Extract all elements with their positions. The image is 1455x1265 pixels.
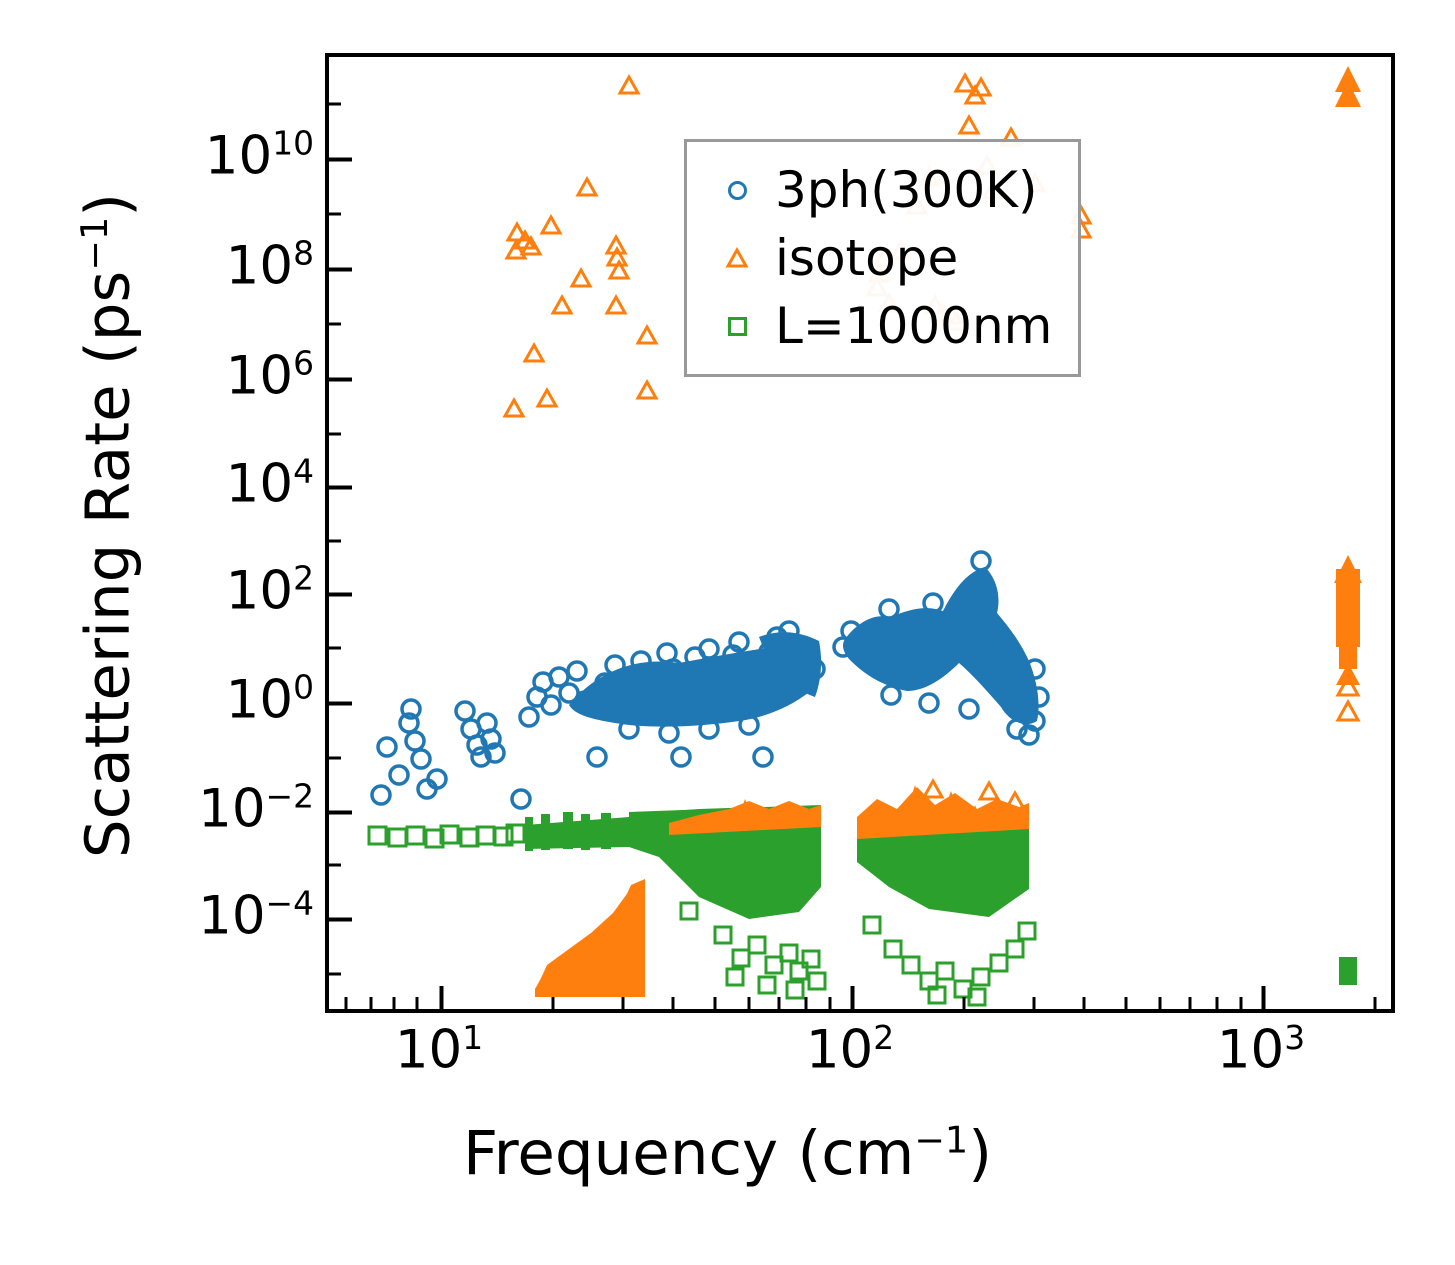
x-axis-label-tail: ) (968, 1118, 992, 1189)
xtick-exponent: 3 (1284, 1018, 1305, 1057)
ytick-mantissa: 10 (226, 453, 293, 514)
xtick-mantissa: 10 (806, 1020, 873, 1081)
legend-entry-3ph[interactable]: 3ph(300K) (705, 156, 1052, 224)
xtick-minor (416, 997, 419, 1010)
xtick-minor (1189, 997, 1192, 1010)
ytick-major-1em4 (328, 918, 352, 922)
xtick-exponent: 2 (873, 1018, 894, 1057)
xtick-minor (393, 997, 396, 1010)
scatter-plot-figure: 3ph(300K) isotope L=1000nm 1010 108 106 … (0, 0, 1455, 1265)
xtick-minor (963, 997, 966, 1010)
xtick-minor (552, 997, 555, 1010)
ytick-minor (328, 757, 341, 760)
ytick-minor (328, 864, 341, 867)
ytick-exponent: −4 (266, 884, 314, 923)
ytick-label-1e8: 108 (226, 238, 314, 293)
y-axis-label-exponent: −1 (73, 217, 116, 271)
legend-label-length: L=1000nm (769, 297, 1052, 355)
xtick-exponent: 1 (462, 1018, 483, 1057)
legend-entry-isotope[interactable]: isotope (705, 224, 1052, 292)
ytick-mantissa: 10 (226, 345, 293, 406)
xtick-major-100 (851, 986, 855, 1010)
xtick-minor (345, 997, 348, 1010)
x-axis-label-exponent: −1 (914, 1119, 968, 1162)
xtick-minor (1159, 997, 1162, 1010)
ytick-minor (328, 647, 341, 650)
ytick-exponent: 4 (293, 452, 314, 491)
ytick-mantissa: 10 (198, 778, 265, 839)
series-L1000nm-band-low (525, 812, 629, 851)
series-isotope-ramp (535, 879, 645, 997)
y-axis-label-tail: ) (73, 193, 144, 217)
series-3ph300K-optical-blob (843, 567, 1039, 724)
xtick-minor (622, 997, 625, 1010)
xtick-minor (778, 997, 781, 1010)
ytick-major-1em2 (328, 811, 352, 815)
ytick-exponent: 0 (293, 668, 314, 707)
ytick-label-1em4: 10−4 (198, 888, 314, 943)
ytick-major-1e8 (328, 268, 352, 272)
xtick-minor (714, 997, 717, 1010)
xtick-minor (829, 997, 832, 1010)
ytick-mantissa: 10 (226, 560, 293, 621)
ytick-major-1e10 (328, 158, 352, 162)
ytick-minor (328, 103, 341, 106)
x-axis-label-text: Frequency (cm (463, 1118, 914, 1189)
xtick-minor (748, 997, 751, 1010)
ytick-label-1e0: 100 (226, 672, 314, 727)
legend-label-isotope: isotope (769, 229, 958, 287)
ytick-minor (328, 973, 341, 976)
xtick-minor (1033, 997, 1036, 1010)
ytick-mantissa: 10 (205, 125, 272, 186)
plot-axes-frame: 3ph(300K) isotope L=1000nm (325, 53, 1395, 1013)
ytick-label-1e10: 1010 (205, 128, 314, 183)
ytick-mantissa: 10 (226, 669, 293, 730)
xtick-mantissa: 10 (395, 1020, 462, 1081)
y-axis-label: Scattering Rate (ps−1) (73, 0, 144, 1091)
ytick-mantissa: 10 (198, 885, 265, 946)
legend-entry-length[interactable]: L=1000nm (705, 292, 1052, 360)
ytick-exponent: 10 (272, 124, 314, 163)
ytick-label-1e6: 106 (226, 348, 314, 403)
xtick-label-100: 102 (806, 1022, 894, 1077)
ytick-exponent: 6 (293, 344, 314, 383)
xtick-minor (1083, 997, 1086, 1010)
ytick-major-1e4 (328, 486, 352, 490)
ytick-label-1em2: 10−2 (198, 781, 314, 836)
xtick-minor (1240, 997, 1243, 1010)
series-L1000nm-right-bar (1339, 957, 1357, 985)
series-isotope-right-column (1334, 66, 1362, 685)
ytick-minor (328, 433, 341, 436)
ytick-exponent: 8 (293, 234, 314, 273)
ytick-major-1e6 (328, 378, 352, 382)
xtick-major-10 (440, 986, 444, 1010)
ytick-major-1e0 (328, 702, 352, 706)
series-L1000nm-outliers-optical (864, 917, 1035, 1005)
xtick-mantissa: 10 (1217, 1020, 1284, 1081)
ytick-mantissa: 10 (226, 235, 293, 296)
xtick-minor (370, 997, 373, 1010)
xtick-major-1000 (1262, 986, 1266, 1010)
circle-marker-icon (705, 181, 769, 200)
series-3ph300K-acoustic-blob (569, 632, 821, 727)
ytick-minor (328, 323, 341, 326)
ytick-minor (328, 540, 341, 543)
square-marker-icon (705, 317, 769, 336)
series-isotope-band (669, 785, 1029, 839)
series-L1000nm (369, 825, 524, 847)
ytick-major-1e2 (328, 593, 352, 597)
xtick-minor (672, 997, 675, 1010)
ytick-exponent: 2 (293, 559, 314, 598)
legend-label-3ph: 3ph(300K) (769, 161, 1037, 219)
ytick-minor (328, 213, 341, 216)
triangle-marker-icon (705, 247, 769, 269)
xtick-minor (1374, 997, 1377, 1010)
xtick-label-1000: 103 (1217, 1022, 1305, 1077)
xtick-minor (1216, 997, 1219, 1010)
x-axis-label: Frequency (cm−1) (0, 1118, 1455, 1189)
xtick-minor (1125, 997, 1128, 1010)
ytick-label-1e2: 102 (226, 563, 314, 618)
ytick-label-1e4: 104 (226, 456, 314, 511)
ytick-exponent: −2 (266, 777, 314, 816)
xtick-minor (805, 997, 808, 1010)
xtick-label-10: 101 (395, 1022, 483, 1077)
y-axis-label-text: Scattering Rate (ps (73, 271, 144, 858)
legend[interactable]: 3ph(300K) isotope L=1000nm (684, 139, 1081, 377)
